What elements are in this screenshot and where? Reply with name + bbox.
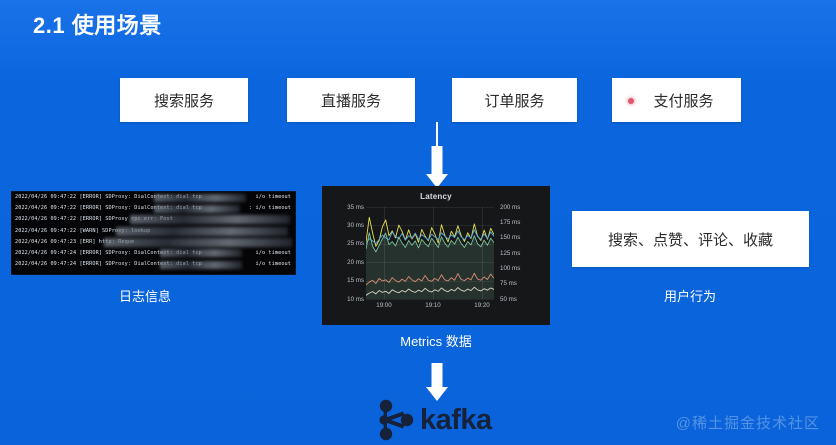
chart-left-tick-label: 15 ms: [324, 277, 364, 284]
chart-x-tick-label: 19:20: [474, 302, 489, 309]
watermark: @稀土掘金技术社区: [676, 412, 820, 433]
chart-x-tick-label: 19:00: [376, 302, 391, 309]
service-box-live[interactable]: 直播服务: [287, 78, 415, 122]
chart-gridline-vertical: [482, 207, 483, 299]
kafka-wordmark: kafka: [420, 406, 492, 435]
chart-gridline-vertical: [433, 207, 434, 299]
arrow-down-to-metrics-icon: [426, 146, 448, 188]
chart-right-tick-label: 150 ms: [500, 234, 544, 241]
service-box-order-label: 订单服务: [484, 90, 544, 111]
page-title: 2.1 使用场景: [33, 8, 162, 40]
chart-right-tick-label: 200 ms: [500, 204, 544, 211]
chart-gridline-horizontal: [366, 262, 494, 263]
chart-left-tick-label: 30 ms: [324, 222, 364, 229]
chart-right-tick-label: 125 ms: [500, 250, 544, 257]
chart-gridline-horizontal: [366, 207, 494, 208]
service-box-payment[interactable]: 支付服务: [612, 78, 741, 122]
chart-right-tick-label: 100 ms: [500, 265, 544, 272]
log-line: 2022/04/26 09:47:23 [ERR] http: Reque: [12, 237, 295, 248]
log-line: 2022/04/26 09:47:22 [ERROR] SDProxy: Dia…: [12, 192, 295, 203]
chart-title: Latency: [322, 192, 550, 201]
chart-gridline-horizontal: [366, 281, 494, 282]
chart-right-tick-label: 75 ms: [500, 280, 544, 287]
log-line: 2022/04/26 09:47:24 [ERROR] SDProxy: Dia…: [12, 259, 295, 270]
chart-plot-area: [366, 207, 494, 299]
service-box-search[interactable]: 搜索服务: [120, 78, 248, 122]
chart-gridline-horizontal: [366, 299, 494, 300]
chart-left-tick-label: 35 ms: [324, 204, 364, 211]
caption-logs: 日志信息: [119, 286, 171, 305]
chart-right-tick-label: 175 ms: [500, 219, 544, 226]
log-line-tail: : i/o timeout: [249, 203, 291, 214]
chart-gridline-horizontal: [366, 225, 494, 226]
log-line-tail: i/o timeout: [256, 248, 291, 259]
service-box-live-label: 直播服务: [321, 90, 381, 111]
log-line: 2022/04/26 09:47:22 [ERROR] SDProxy: Dia…: [12, 203, 295, 214]
service-box-order[interactable]: 订单服务: [452, 78, 577, 122]
metrics-chart-panel: Latency 35 ms30 ms25 ms20 ms15 ms10 ms20…: [322, 186, 550, 325]
chart-gridline-vertical: [384, 207, 385, 299]
service-box-search-label: 搜索服务: [154, 90, 214, 111]
user-behaviour-box[interactable]: 搜索、点赞、评论、收藏: [572, 211, 809, 267]
status-dot-icon: [628, 98, 634, 104]
service-box-row: 搜索服务 直播服务 订单服务 支付服务: [0, 78, 836, 122]
chart-left-tick-label: 20 ms: [324, 259, 364, 266]
log-console-panel: 2022/04/26 09:47:22 [ERROR] SDProxy: Dia…: [11, 191, 296, 275]
caption-user-behaviour: 用户行为: [664, 286, 716, 305]
caption-metrics: Metrics 数据: [400, 331, 472, 350]
log-line-tail: i/o timeout: [256, 192, 291, 203]
log-line: 2022/04/26 09:47:22 [ERROR] SDProxy rpc …: [12, 214, 295, 225]
log-line: 2022/04/26 09:47:22 [WARN] SDProxy: look…: [12, 226, 295, 237]
user-behaviour-box-label: 搜索、点赞、评论、收藏: [608, 229, 773, 250]
chart-x-tick-label: 19:10: [425, 302, 440, 309]
log-line-tail: i/o timeout: [256, 259, 291, 270]
chart-right-tick-label: 50 ms: [500, 296, 544, 303]
chart-left-tick-label: 10 ms: [324, 296, 364, 303]
chart-left-tick-label: 25 ms: [324, 240, 364, 247]
chart-series-svg: [366, 207, 494, 299]
service-box-payment-label: 支付服务: [653, 90, 713, 111]
kafka-logo: kafka: [374, 396, 504, 445]
chart-gridline-horizontal: [366, 244, 494, 245]
slide-canvas: 2.1 使用场景 搜索服务 直播服务 订单服务 支付服务 2022/04/26 …: [0, 0, 836, 445]
kafka-mark-icon: [374, 396, 418, 445]
log-line: 2022/04/26 09:47:24 [ERROR] SDProxy: Dia…: [12, 248, 295, 259]
